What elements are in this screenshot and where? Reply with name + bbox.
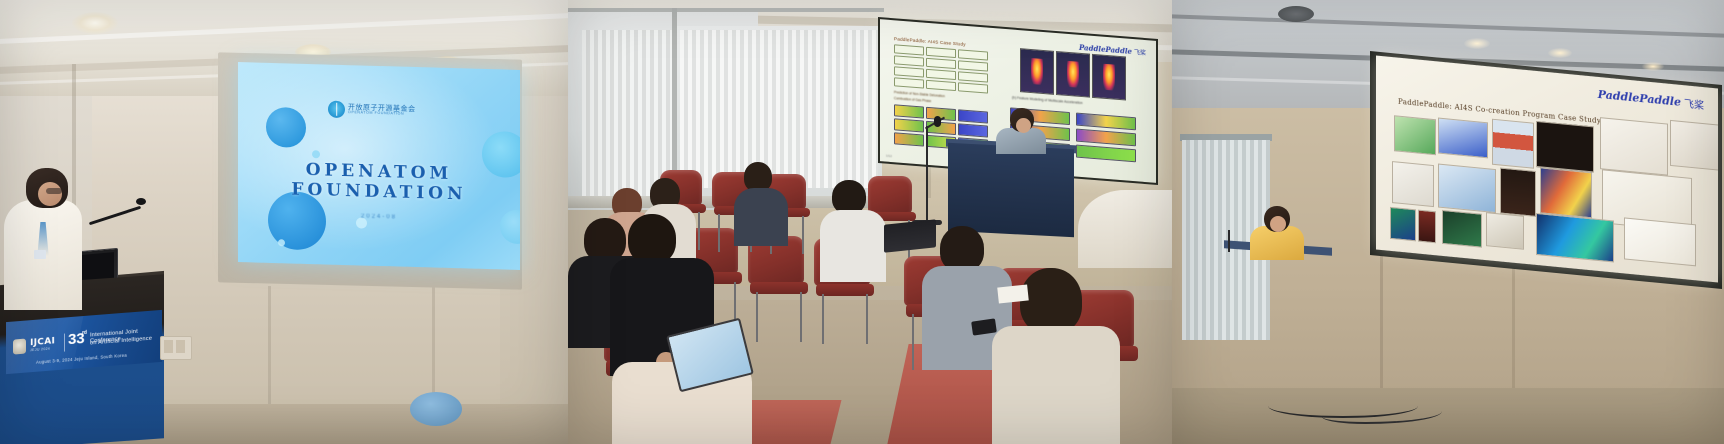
presenter-face <box>1016 118 1031 133</box>
badge <box>34 250 46 259</box>
paddlepaddle-logo-cn: 飞桨 <box>1134 47 1146 57</box>
laptop[interactable] <box>884 219 936 252</box>
speaker-face <box>38 182 62 206</box>
openatom-mark-icon <box>328 101 345 118</box>
projection-screen: 开放原子开源基金会 OPENATOM FOUNDATION OPENATOM F… <box>238 62 520 270</box>
decorative-circle <box>278 239 285 246</box>
microphone-head-icon <box>136 198 146 205</box>
ceiling-downlight <box>1642 62 1664 71</box>
decorative-circle <box>266 107 306 148</box>
projection-screen: PaddlePaddle: AI4S Co-creation Program C… <box>1376 56 1718 283</box>
slide-thumbnail <box>1486 212 1524 250</box>
round-table <box>1078 190 1172 268</box>
microphone-stand <box>926 126 928 222</box>
podium <box>948 143 1074 238</box>
slide-thumbnail <box>1442 210 1482 248</box>
floor <box>1172 388 1724 444</box>
slide-thumbnail <box>1392 161 1434 207</box>
slide-thumbnail <box>1438 164 1496 214</box>
paddlepaddle-logo: PaddlePaddle 飞桨 <box>1598 87 1704 112</box>
slide-heatmap-row <box>1020 48 1126 100</box>
slide-diagram <box>1600 117 1668 176</box>
slide-diagram-grid <box>894 44 988 93</box>
photo-panel-3: PaddlePaddle: AI4S Co-creation Program C… <box>1172 0 1724 444</box>
decorative-circle <box>312 150 320 158</box>
ceiling-light <box>72 12 118 34</box>
microphone-head-icon <box>934 116 941 127</box>
slide-thumbnail <box>1624 217 1696 266</box>
window-frame <box>568 8 884 12</box>
slide-caption: (b) Feature Modeling of Multiscale Accel… <box>1012 96 1083 106</box>
paddlepaddle-wordmark: PaddlePaddle <box>1598 88 1681 109</box>
ceiling-downlight <box>1464 38 1490 49</box>
slide-thumbnail <box>1438 118 1488 159</box>
presenter-face <box>1270 216 1286 232</box>
paddlepaddle-logo-cn: 飞桨 <box>1684 95 1704 112</box>
conference-ordinal: rd <box>82 330 87 336</box>
ceiling-downlight <box>1548 48 1572 58</box>
slide-thumbnail <box>1500 167 1536 216</box>
photo-panel-2: PaddlePaddle: AI4S Case Study Prediction… <box>568 0 1172 444</box>
window-blinds <box>680 30 878 188</box>
slide-thumbnail <box>1418 210 1436 244</box>
slide-thumbnail <box>1540 167 1592 218</box>
paper-handout <box>997 284 1029 303</box>
outlet-socket <box>176 340 185 353</box>
speaker-glasses <box>46 188 62 194</box>
ijcai-crest-icon <box>13 339 26 355</box>
outlet-socket <box>164 340 173 353</box>
slide-title: OPENATOM FOUNDATION <box>238 158 520 206</box>
photo-collage: 开放原子开源基金会 OPENATOM FOUNDATION OPENATOM F… <box>0 0 1724 444</box>
slide-thumbnail <box>1536 121 1594 173</box>
slide-subtitle-2: Combustion of Gas Phase <box>894 96 931 103</box>
slide-thumbnail <box>1536 213 1614 263</box>
slide-page-number: 1/12 <box>886 154 892 158</box>
microphone-stand <box>1228 230 1230 252</box>
slide-thumbnail <box>1390 207 1416 242</box>
podium <box>1226 244 1330 391</box>
slide-diagram <box>1670 120 1718 171</box>
slide-thumbnail <box>1394 115 1436 155</box>
openatom-logo-en: OPENATOM FOUNDATION <box>348 111 416 117</box>
foreground-object <box>410 392 462 426</box>
openatom-logo: 开放原子开源基金会 OPENATOM FOUNDATION <box>328 101 448 121</box>
ceiling-speaker <box>1278 6 1314 22</box>
photo-panel-1: 开放原子开源基金会 OPENATOM FOUNDATION OPENATOM F… <box>0 0 568 444</box>
slide-thumbnail <box>1492 119 1534 169</box>
